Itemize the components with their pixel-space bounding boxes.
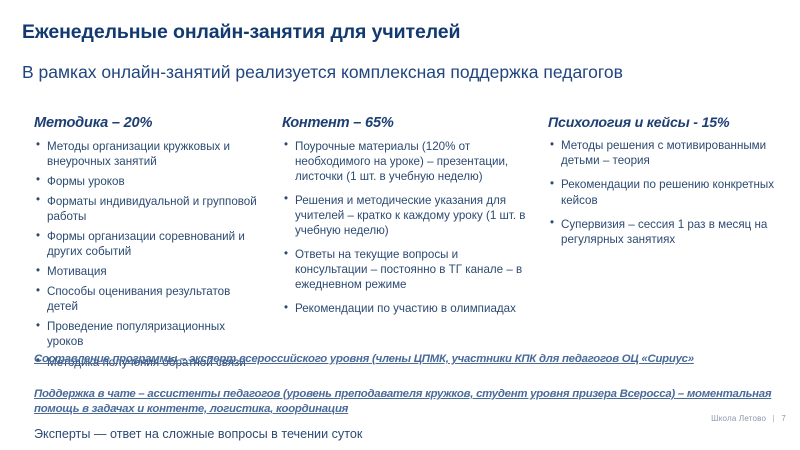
list-item: Мотивация [34,264,264,279]
bullet-list-psychology: Методы решения с мотивированными детьми … [548,138,794,246]
column-psychology: Психология и кейсы - 15% Методы решения … [534,115,800,256]
list-item: Рекомендации по участию в олимпиадах [282,301,526,316]
note-program-authors: Составление программы – эксперт всеросси… [34,352,774,367]
list-item: Формы уроков [34,174,264,189]
footer-notes: Составление программы – эксперт всеросси… [34,352,774,443]
note-chat-support: Поддержка в чате – ассистенты педагогов … [34,387,774,417]
list-item: Супервизия – сессия 1 раз в месяц на рег… [548,217,794,247]
list-item: Поурочные материалы (120% от необходимог… [282,139,526,184]
column-methodology: Методика – 20% Методы организации кружко… [0,115,272,375]
list-item: Форматы индивидуальной и групповой работ… [34,194,264,224]
column-heading-content: Контент – 65% [282,115,526,132]
branding-separator: | [773,414,775,423]
bullet-list-content: Поурочные материалы (120% от необходимог… [282,139,526,317]
column-heading-psychology: Психология и кейсы - 15% [548,115,794,131]
note-experts: Эксперты — ответ на сложные вопросы в те… [34,427,774,443]
slide-branding: Школа Летово | 7 [711,414,786,423]
list-item: Решения и методические указания для учит… [282,193,526,238]
page-title: Еженедельные онлайн-занятия для учителей [22,22,762,43]
list-item: Способы оценивания результатов детей [34,284,264,314]
list-item: Ответы на текущие вопросы и консультации… [282,247,526,292]
list-item: Методы организации кружковых и внеурочны… [34,139,264,169]
column-heading-methodology: Методика – 20% [34,115,264,132]
page-subtitle: В рамках онлайн-занятий реализуется комп… [22,62,772,82]
list-item: Формы организации соревнований и других … [34,229,264,259]
list-item: Методы решения с мотивированными детьми … [548,138,794,168]
list-item: Рекомендации по решению конкретных кейсо… [548,177,794,207]
list-item: Проведение популяризационных уроков [34,319,264,349]
page-number: 7 [781,414,786,423]
bullet-list-methodology: Методы организации кружковых и внеурочны… [34,139,264,370]
column-content: Контент – 65% Поурочные материалы (120% … [272,115,534,325]
slide: Еженедельные онлайн-занятия для учителей… [0,0,800,450]
content-columns: Методика – 20% Методы организации кружко… [0,115,800,375]
school-name: Школа Летово [711,414,766,423]
